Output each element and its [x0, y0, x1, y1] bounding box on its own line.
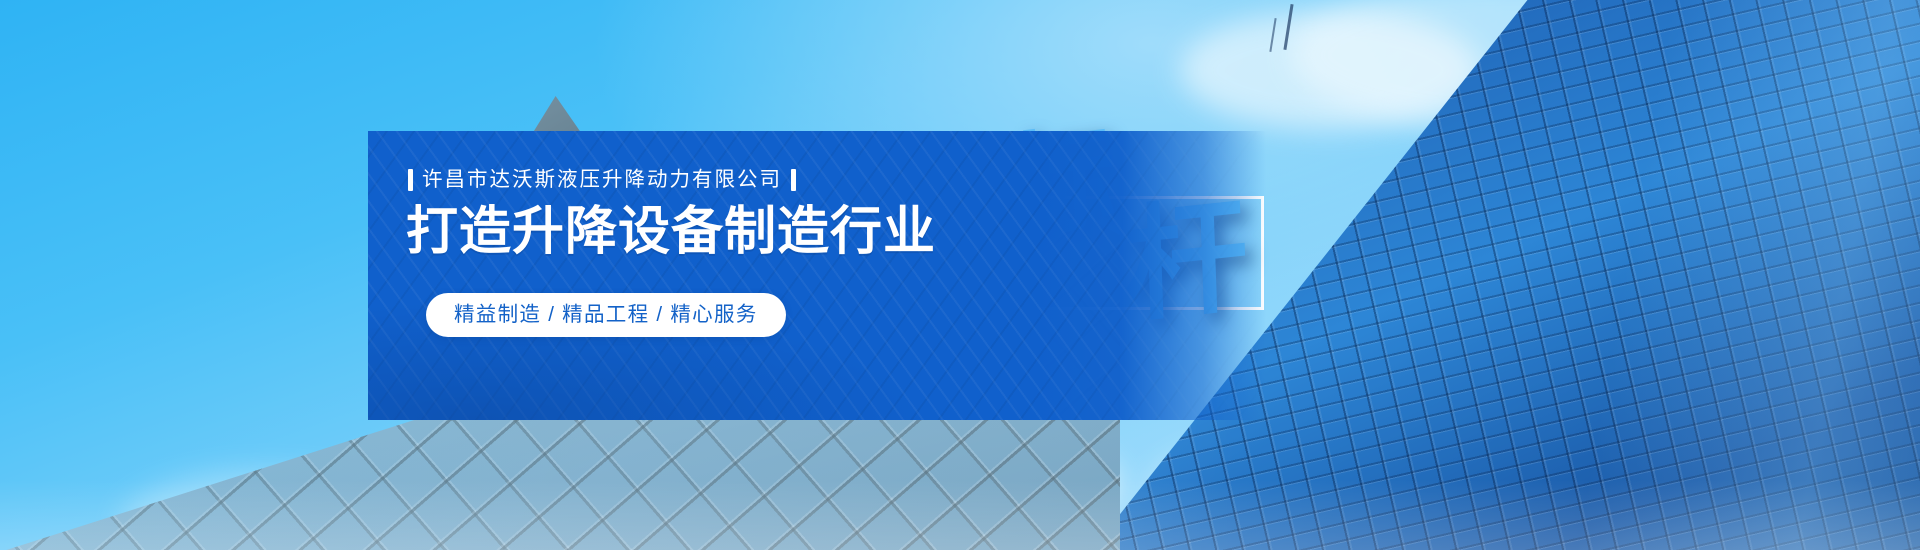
company-tag-row: 许昌市达沃斯液压升降动力有限公司	[408, 169, 796, 191]
tick-mark-right-icon	[791, 169, 796, 191]
slogan-pill[interactable]: 精益制造 / 精品工程 / 精心服务	[426, 293, 786, 337]
hero-banner: 标 杆 许昌市达沃斯液压升降动力有限公司 打造升降设备制造行业 精益制造 / 精…	[0, 0, 1920, 550]
slogan-text: 精益制造 / 精品工程 / 精心服务	[454, 305, 758, 326]
bottom-vignette	[0, 480, 1920, 550]
banner-content: 许昌市达沃斯液压升降动力有限公司 打造升降设备制造行业 精益制造 / 精品工程 …	[408, 131, 1288, 420]
company-name: 许昌市达沃斯液压升降动力有限公司	[422, 170, 782, 191]
tick-mark-left-icon	[408, 169, 413, 191]
headline-text: 打造升降设备制造行业	[406, 206, 936, 258]
